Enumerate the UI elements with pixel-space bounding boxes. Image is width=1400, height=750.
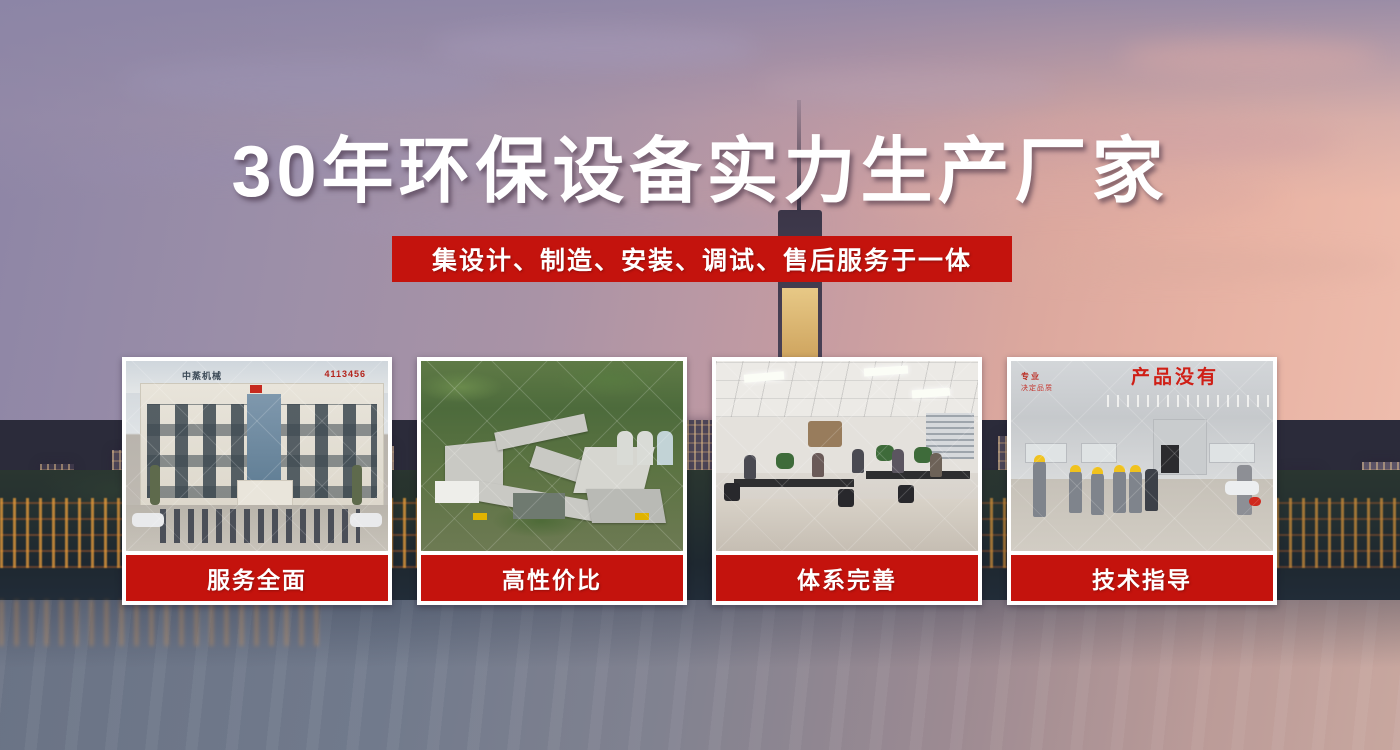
feature-card-label: 高性价比 [502,561,602,595]
red-hard-hat-icon [1249,497,1261,506]
silo-shape [637,431,653,465]
staff-lineup [160,509,360,543]
car-shape [1225,481,1259,495]
person-shape [892,449,904,473]
hard-hat-icon [1092,467,1103,474]
worker-shape [1069,471,1082,513]
potted-plant [776,453,794,469]
worker-shape [1145,469,1158,511]
subtitle-text: 集设计、制造、安装、调试、售后服务于一体 [432,241,972,277]
person-shape [744,455,756,479]
chair-shape [724,483,740,501]
feature-card-caption: 高性价比 [421,555,683,601]
workers-training-factory-photo: 专业 决定品质 产品没有 [1011,361,1273,551]
flag-icon [250,385,262,393]
feature-card-caption: 技术指导 [1011,555,1273,601]
excavator-shape [635,513,649,520]
factory-side-door [1161,445,1179,473]
car-shape [350,513,382,527]
feature-card[interactable]: 体系完善 [712,357,982,605]
factory-slogan-left2: 决定品质 [1021,383,1053,393]
hard-hat-icon [1130,465,1141,472]
cloud-shape [1120,40,1380,74]
worker-shape [1091,473,1104,515]
conveyor-structure [494,414,588,451]
feature-card-caption: 服务全面 [126,555,388,601]
warehouse-shape [435,481,479,503]
tree-shape [352,465,362,505]
warehouse-shape [513,493,565,519]
person-shape [852,449,864,473]
hero-banner: 30年环保设备实力生产厂家 集设计、制造、安装、调试、售后服务于一体 中蒸机械 … [0,0,1400,750]
feature-card-list: 中蒸机械 4113456 服务全面 [122,357,1277,605]
factory-window [1025,443,1067,463]
factory-sign-text: 产品没有 [1131,365,1273,391]
silo-shape [657,431,673,465]
roof-railing [1107,395,1273,407]
office-building [140,383,384,507]
company-phone-text: 4113456 [324,369,366,379]
car-shape [132,513,164,527]
hard-hat-icon [1034,455,1045,462]
aerial-production-plant-photo [421,361,683,551]
conveyor-structure [586,489,666,523]
company-sign-text: 中蒸机械 [182,369,222,382]
desk-shape [734,479,854,487]
chair-shape [838,489,854,507]
cloud-shape [120,60,500,106]
worker-shape [1113,471,1126,513]
page-title: 30年环保设备实力生产厂家 [0,133,1400,211]
worker-shape [1033,461,1046,517]
factory-window [1209,443,1255,463]
feature-card-label: 技术指导 [1092,561,1192,595]
feature-card[interactable]: 专业 决定品质 产品没有 [1007,357,1277,605]
feature-card[interactable]: 高性价比 [417,357,687,605]
feature-card-caption: 体系完善 [716,555,978,601]
person-shape [930,453,942,477]
hard-hat-icon [1070,465,1081,472]
factory-sign: 产品没有 [1131,365,1273,391]
cloud-shape [300,210,820,238]
feature-card[interactable]: 中蒸机械 4113456 服务全面 [122,357,392,605]
office-workspace-photo [716,361,978,551]
hard-hat-icon [1114,465,1125,472]
worker-shape [1129,471,1142,513]
factory-window [1081,443,1117,463]
water-light-reflections [0,600,330,646]
silo-shape [617,431,633,465]
desk-shape [866,471,970,479]
company-office-building-photo: 中蒸机械 4113456 [126,361,388,551]
tree-shape [150,465,160,505]
factory-slogan-left: 专业 [1021,371,1041,382]
cloud-shape [760,70,1060,106]
wall-decal [808,421,842,447]
subtitle-bar: 集设计、制造、安装、调试、售后服务于一体 [392,236,1012,282]
person-shape [812,453,824,477]
cloud-shape [430,28,760,68]
excavator-shape [473,513,487,520]
feature-card-label: 体系完善 [797,561,897,595]
chair-shape [898,485,914,503]
feature-card-label: 服务全面 [207,561,307,595]
